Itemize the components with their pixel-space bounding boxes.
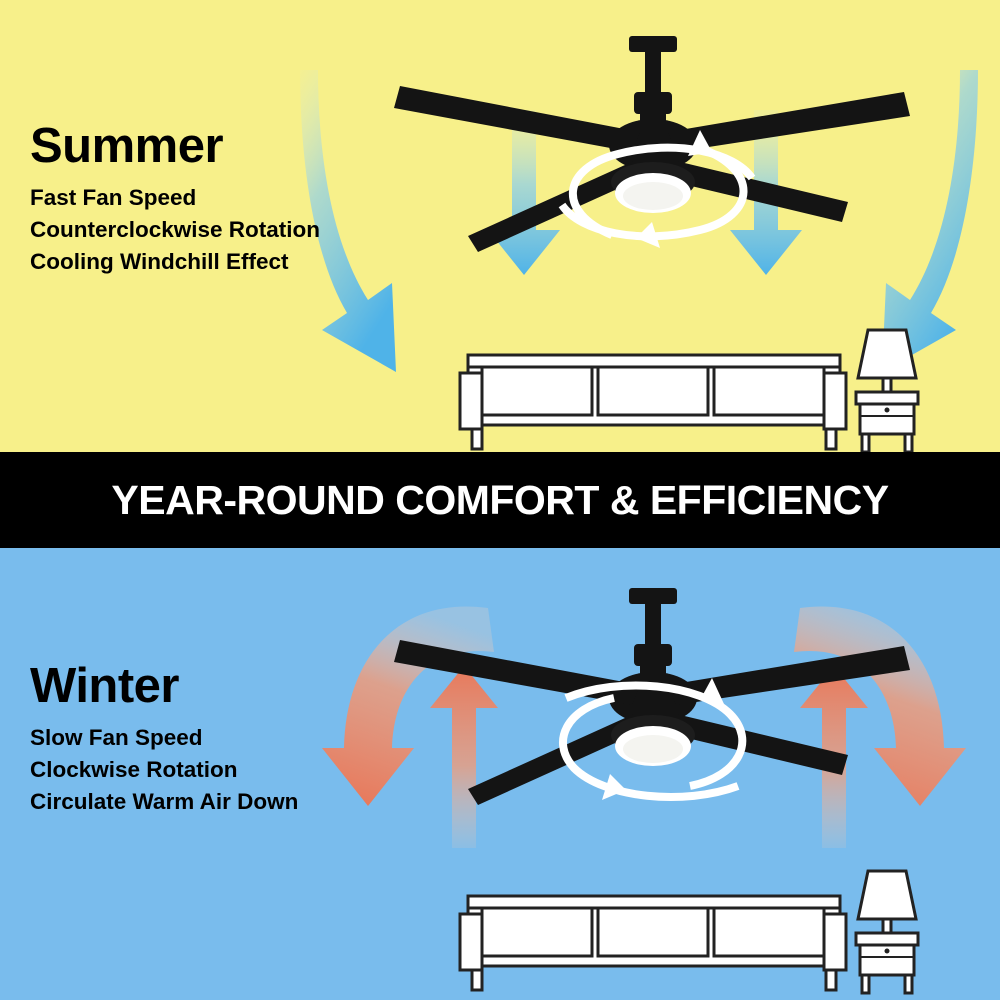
winter-panel: Winter Slow Fan Speed Clockwise Rotation… — [0, 548, 1000, 1000]
infographic-page: Summer Fast Fan Speed Counterclockwise R… — [0, 0, 1000, 1000]
side-table-illustration — [856, 392, 918, 452]
banner: YEAR-ROUND COMFORT & EFFICIENCY — [0, 452, 1000, 548]
winter-line-2: Clockwise Rotation — [30, 754, 298, 786]
winter-title: Winter — [30, 662, 298, 712]
side-table-illustration — [856, 933, 918, 993]
summer-line-1: Fast Fan Speed — [30, 182, 320, 214]
summer-panel: Summer Fast Fan Speed Counterclockwise R… — [0, 0, 1000, 452]
sofa-illustration — [460, 896, 846, 990]
summer-line-3: Cooling Windchill Effect — [30, 246, 320, 278]
ceiling-fan-illustration — [394, 36, 910, 252]
sofa-illustration — [460, 355, 846, 449]
table-lamp-illustration — [858, 871, 916, 933]
winter-text-block: Winter Slow Fan Speed Clockwise Rotation… — [30, 662, 298, 818]
banner-title: YEAR-ROUND COMFORT & EFFICIENCY — [111, 477, 888, 524]
summer-line-2: Counterclockwise Rotation — [30, 214, 320, 246]
table-lamp-illustration — [858, 330, 916, 392]
winter-line-3: Circulate Warm Air Down — [30, 786, 298, 818]
summer-title: Summer — [30, 122, 320, 172]
winter-line-1: Slow Fan Speed — [30, 722, 298, 754]
summer-text-block: Summer Fast Fan Speed Counterclockwise R… — [30, 122, 320, 278]
